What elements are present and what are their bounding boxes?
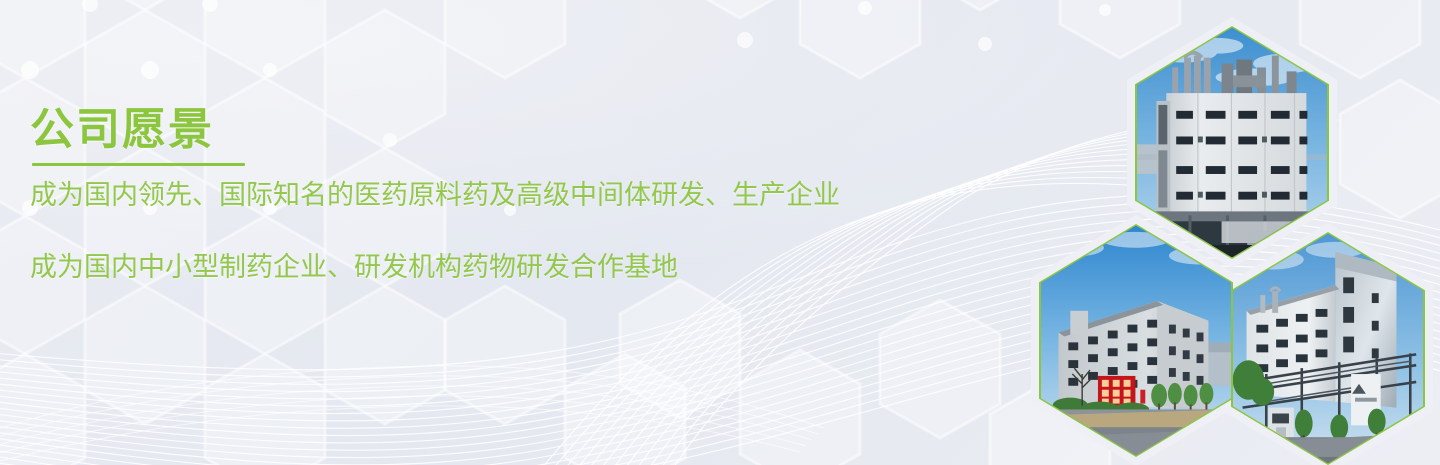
page-title: 公司愿景 (30, 104, 1070, 156)
vision-text-block: 公司愿景 成为国内领先、国际知名的医药原料药及高级中间体研发、生产企业 成为国内… (30, 104, 1070, 284)
title-underline-rule (32, 163, 245, 166)
vision-statement-line-2: 成为国内中小型制药企业、研发机构药物研发合作基地 (30, 250, 1070, 284)
company-vision-banner: 公司愿景 成为国内领先、国际知名的医药原料药及高级中间体研发、生产企业 成为国内… (0, 0, 1440, 465)
vision-statement-line-1: 成为国内领先、国际知名的医药原料药及高级中间体研发、生产企业 (30, 178, 1070, 212)
